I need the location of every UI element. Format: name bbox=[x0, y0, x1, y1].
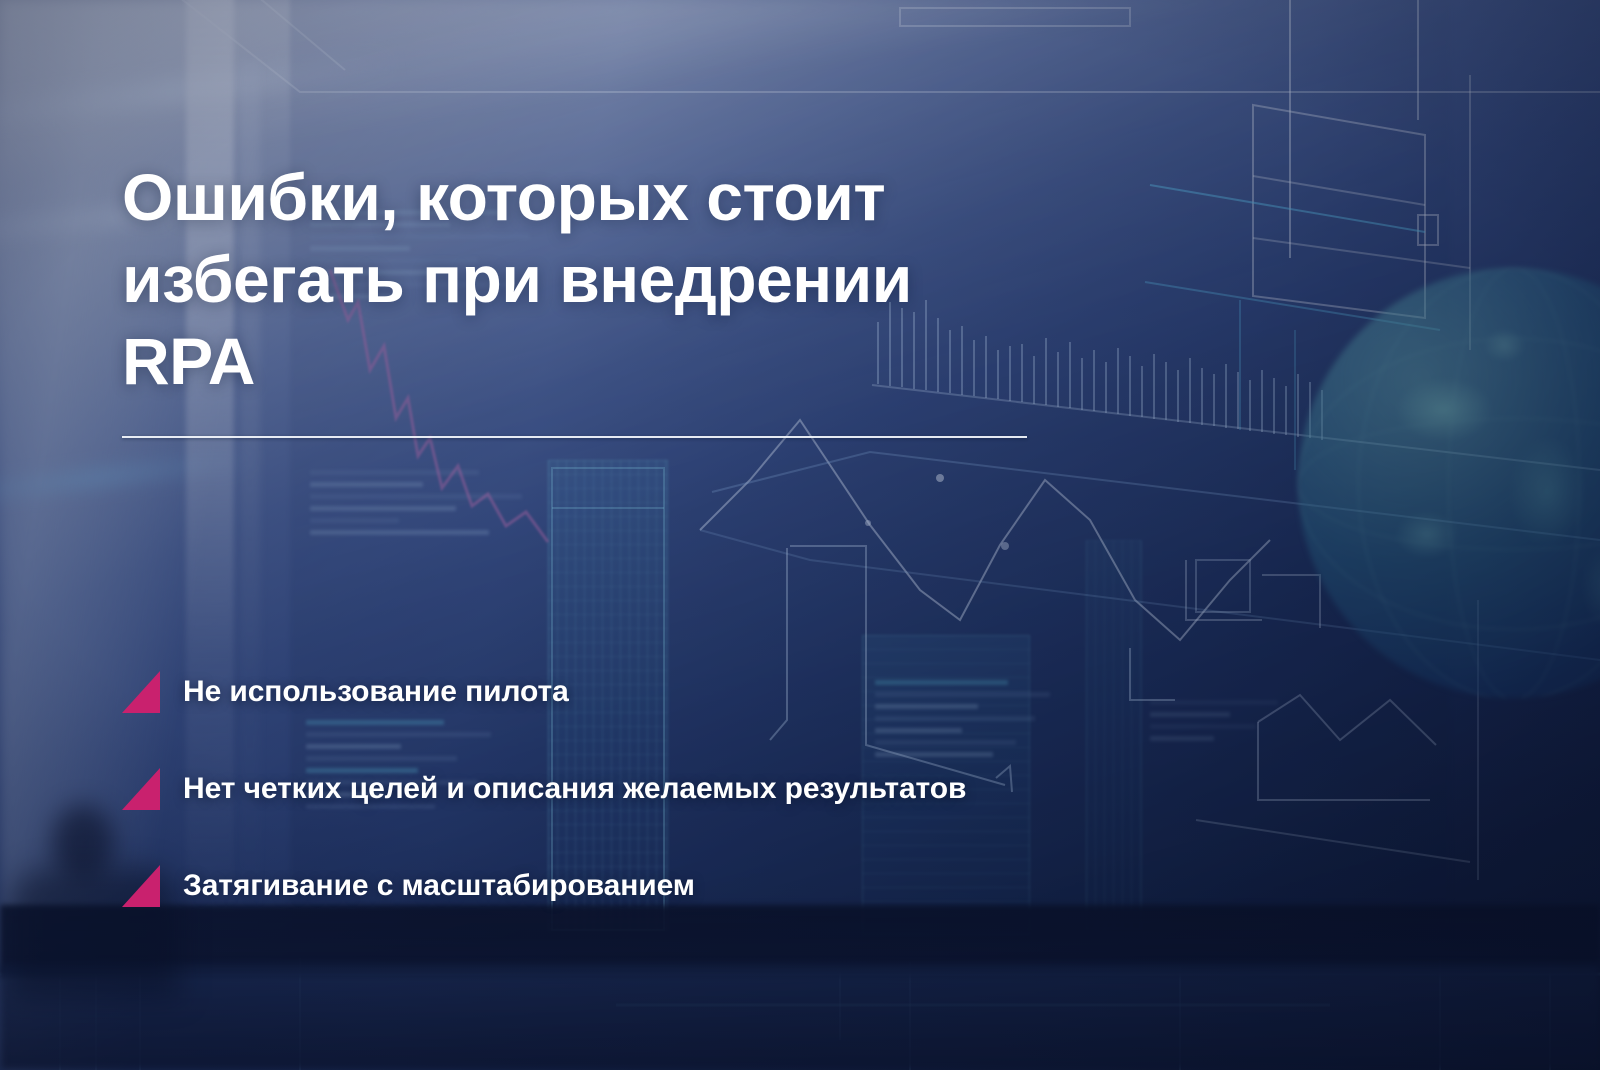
triangle-marker-icon bbox=[122, 865, 160, 907]
slide-content: Ошибки, которых стоит избегать при внедр… bbox=[0, 0, 1600, 1070]
title-line-1: Ошибки, которых стоит bbox=[122, 156, 1302, 238]
title-divider bbox=[122, 436, 1027, 438]
list-item: Затягивание с масштабированием bbox=[122, 858, 1542, 914]
triangle-marker-icon bbox=[122, 768, 160, 810]
triangle-marker-icon bbox=[122, 671, 160, 713]
slide-title: Ошибки, которых стоит избегать при внедр… bbox=[122, 156, 1302, 402]
list-item-label: Нет четких целей и описания желаемых рез… bbox=[183, 772, 966, 806]
list-item-label: Затягивание с масштабированием bbox=[183, 869, 695, 903]
bullet-list: Не использование пилота Нет четких целей… bbox=[122, 664, 1542, 914]
title-line-2: избегать при внедрении bbox=[122, 238, 1302, 320]
title-line-3: RPA bbox=[122, 320, 1302, 402]
list-item-label: Не использование пилота bbox=[183, 675, 569, 709]
presentation-slide: Ошибки, которых стоит избегать при внедр… bbox=[0, 0, 1600, 1070]
list-item: Нет четких целей и описания желаемых рез… bbox=[122, 761, 1542, 817]
list-item: Не использование пилота bbox=[122, 664, 1542, 720]
